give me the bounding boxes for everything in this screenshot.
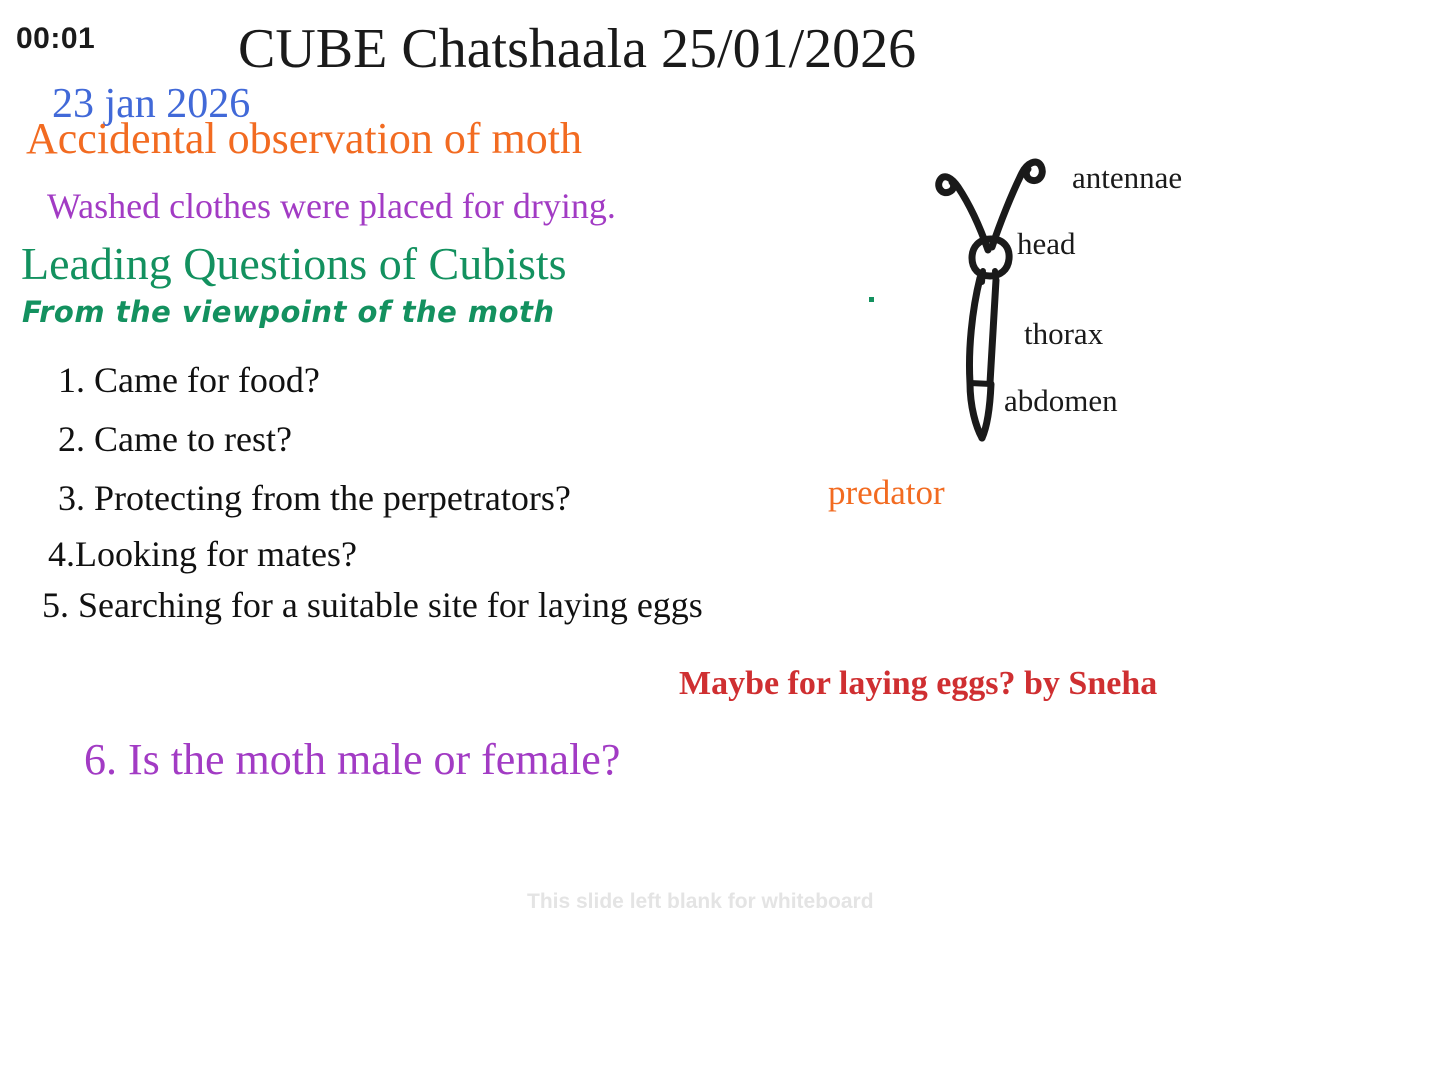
sneha-comment: Maybe for laying eggs? by Sneha [679, 665, 1157, 703]
leading-questions-heading: Leading Questions of Cubists [21, 237, 567, 290]
list-item: 2. Came to rest? [58, 418, 292, 460]
list-item: 1. Came for food? [58, 359, 320, 401]
question-six: 6. Is the moth male or female? [84, 734, 620, 785]
accidental-observation-heading: Accidental observation of moth [26, 113, 582, 164]
list-item: 4.Looking for mates? [48, 533, 357, 575]
presentation-slide: 00:01 CUBE Chatshaala 25/01/2026 23 jan … [0, 0, 1441, 1081]
moth-label-antennae: antennae [1072, 160, 1182, 196]
session-timer: 00:01 [16, 22, 95, 56]
green-dot-artifact [869, 297, 874, 302]
washed-clothes-line: Washed clothes were placed for drying. [47, 185, 616, 227]
list-item: 3. Protecting from the perpetrators? [58, 477, 571, 519]
moth-label-abdomen: abdomen [1004, 383, 1118, 419]
predator-annotation: predator [828, 473, 945, 513]
list-item: 5. Searching for a suitable site for lay… [42, 584, 703, 626]
moth-label-thorax: thorax [1024, 316, 1103, 352]
moth-label-head: head [1017, 226, 1076, 262]
page-title: CUBE Chatshaala 25/01/2026 [238, 17, 916, 81]
viewpoint-subtitle: From the viewpoint of the moth [22, 295, 555, 329]
whiteboard-watermark: This slide left blank for whiteboard [527, 890, 874, 914]
